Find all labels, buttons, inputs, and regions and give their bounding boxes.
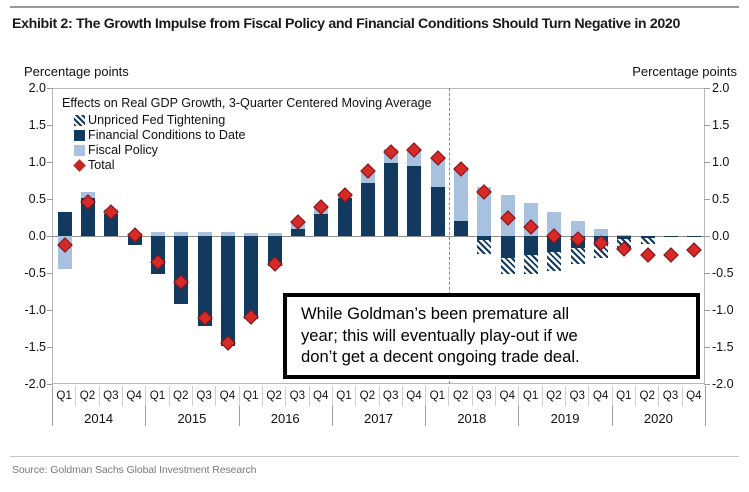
y-axis-tick-label: -1.0 [8,303,46,317]
y-tick-right [704,199,710,200]
bar-fiscal-policy [617,235,631,236]
x-axis-quarter-label: Q1 [612,386,635,406]
legend-label: Fiscal Policy [88,143,158,158]
y-axis-tick-label: 1.0 [712,155,749,169]
x-axis-quarter-label: Q3 [285,386,308,406]
bar-fiscal-policy [244,233,258,236]
x-axis-quarter-label: Q1 [239,386,262,406]
y-tick-left [47,162,53,163]
x-axis-quarter-label: Q1 [332,386,355,406]
bar-financial-conditions [58,212,72,236]
x-axis-quarter-label: Q2 [75,386,98,406]
y-axis-tick-label: -0.5 [712,266,749,280]
bar-financial-conditions [384,163,398,236]
x-axis-quarter-label: Q1 [518,386,541,406]
x-axis-quarter-label: Q3 [379,386,402,406]
source-divider [10,456,739,457]
bar-financial-conditions [687,236,701,237]
legend-swatch-hatch-icon [74,115,85,126]
total-marker-diamond-icon [687,242,703,258]
annotation-line-3: don’t get a decent ongoing trade deal. [301,346,686,368]
x-axis-quarter-label: Q3 [658,386,681,406]
x-axis-year-label: 2014 [52,410,145,428]
y-axis-tick-label: 0.5 [712,192,749,206]
y-tick-right [704,310,710,311]
y-tick-right [704,347,710,348]
header-divider [10,6,739,8]
x-axis-year-label: 2018 [425,410,518,428]
x-axis-quarter-label: Q4 [309,386,332,406]
x-axis-quarter-label: Q1 [145,386,168,406]
bar-fiscal-policy [174,232,188,236]
total-marker-diamond-icon [663,247,679,263]
bar-fiscal-policy [221,232,235,236]
x-axis-quarter-label: Q3 [565,386,588,406]
bar-financial-conditions [501,236,515,258]
x-axis-quarter-label: Q1 [52,386,75,406]
y-axis-tick-label: -2.0 [712,377,749,391]
y-axis-unit-left: Percentage points [24,64,129,79]
x-axis-year-label: 2019 [518,410,611,428]
x-axis-quarter-label: Q3 [99,386,122,406]
x-axis-quarter-label: Q4 [215,386,238,406]
page-title: Exhibit 2: The Growth Impulse from Fisca… [12,16,742,32]
x-axis-quarter-label: Q3 [472,386,495,406]
y-tick-left [47,236,53,237]
y-axis-tick-label: -1.0 [712,303,749,317]
bar-unpriced-fed-tightening [477,240,491,253]
x-axis-year-label: 2020 [612,410,705,428]
y-axis-tick-label: 0.5 [8,192,46,206]
y-axis-tick-label: 1.0 [8,155,46,169]
y-tick-left [47,125,53,126]
x-axis-quarter-label: Q2 [635,386,658,406]
legend-swatch-lightblue-icon [74,145,85,156]
y-tick-left [47,347,53,348]
bar-financial-conditions [361,183,375,236]
bar-fiscal-policy [268,233,282,236]
x-axis-quarter-label: Q2 [542,386,565,406]
y-axis-tick-label: -2.0 [8,377,46,391]
legend-item-fiscal-policy: Fiscal Policy [62,143,432,158]
bar-financial-conditions [314,214,328,236]
legend-label: Total [88,158,115,173]
y-axis-tick-label: 1.5 [8,118,46,132]
x-axis-year-separator [705,386,706,426]
legend-swatch-diamond-icon [73,159,86,172]
bar-unpriced-fed-tightening [501,258,515,274]
bar-unpriced-fed-tightening [571,248,585,264]
y-axis-tick-label: 0.0 [712,229,749,243]
y-tick-right [704,236,710,237]
y-axis-tick-label: 2.0 [712,81,749,95]
x-axis-quarter-label: Q4 [402,386,425,406]
x-axis-year-label: 2015 [145,410,238,428]
y-axis-tick-label: -1.5 [8,340,46,354]
x-axis-year-separator [52,386,53,426]
x-axis-quarter-label: Q1 [425,386,448,406]
axis-top-line [53,88,704,89]
total-marker-diamond-icon [640,247,656,263]
x-axis: Q1Q2Q3Q42014Q1Q2Q3Q42015Q1Q2Q3Q42016Q1Q2… [52,384,705,440]
bar-financial-conditions [221,236,235,346]
bar-financial-conditions [174,236,188,304]
bar-financial-conditions [524,236,538,255]
bar-financial-conditions [454,221,468,236]
source-note: Source: Goldman Sachs Global Investment … [12,464,256,476]
legend-swatch-navy-icon [74,130,85,141]
bar-unpriced-fed-tightening [547,252,561,271]
y-tick-left [47,199,53,200]
bar-fiscal-policy [151,232,165,236]
y-axis-unit-right: Percentage points [632,64,737,79]
y-axis-tick-label: 1.5 [712,118,749,132]
y-axis-tick-label: 0.0 [8,229,46,243]
x-axis-quarter-label: Q4 [495,386,518,406]
y-axis-tick-label: -1.5 [712,340,749,354]
legend-label: Financial Conditions to Date [88,128,246,143]
x-axis-quarter-label: Q3 [192,386,215,406]
y-tick-left [47,273,53,274]
legend-item-unpriced-fed-tightening: Unpriced Fed Tightening [62,113,432,128]
y-tick-right [704,88,710,89]
y-axis-tick-label: -0.5 [8,266,46,280]
x-axis-quarter-label: Q2 [355,386,378,406]
x-axis-quarter-label: Q2 [262,386,285,406]
x-axis-quarter-label: Q4 [588,386,611,406]
bar-financial-conditions [431,187,445,236]
x-axis-quarter-label: Q2 [448,386,471,406]
annotation-line-2: year; this will eventually play-out if w… [301,325,686,347]
y-tick-left [47,310,53,311]
y-tick-right [704,273,710,274]
legend-label: Unpriced Fed Tightening [88,113,225,128]
legend-item-financial-conditions: Financial Conditions to Date [62,128,432,143]
y-tick-left [47,88,53,89]
annotation-callout: While Goldman’s been premature all year;… [283,293,700,379]
legend-item-total: Total [62,158,432,173]
y-axis-tick-label: 2.0 [8,81,46,95]
chart-legend: Effects on Real GDP Growth, 3-Quarter Ce… [62,96,432,173]
x-axis-quarter-label: Q4 [122,386,145,406]
bar-financial-conditions [664,236,678,237]
chart-root: Exhibit 2: The Growth Impulse from Fisca… [0,0,749,492]
legend-title: Effects on Real GDP Growth, 3-Quarter Ce… [62,96,432,111]
bar-financial-conditions [244,236,258,319]
bar-financial-conditions [338,198,352,236]
x-axis-quarter-label: Q4 [682,386,705,406]
annotation-line-1: While Goldman’s been premature all [301,303,686,325]
y-tick-right [704,162,710,163]
bar-unpriced-fed-tightening [524,255,538,274]
x-axis-year-label: 2016 [239,410,332,428]
y-tick-right [704,125,710,126]
bar-financial-conditions [407,166,421,236]
x-axis-quarter-label: Q2 [169,386,192,406]
bar-fiscal-policy [198,232,212,236]
bar-unpriced-fed-tightening [641,238,655,244]
x-axis-year-label: 2017 [332,410,425,428]
